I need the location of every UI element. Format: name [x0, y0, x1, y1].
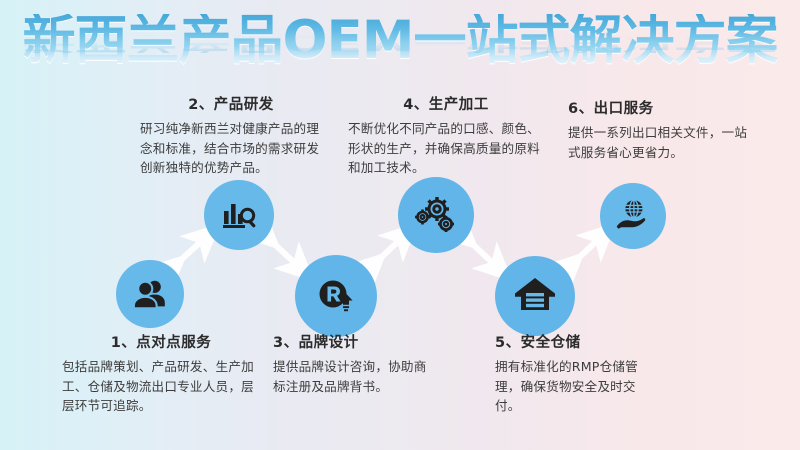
step-body-2: 研习纯净新西兰对健康产品的理念和标准，结合市场的需求研发创新独特的优势产品。: [140, 119, 322, 178]
step-text-2: 2、产品研发 研习纯净新西兰对健康产品的理念和标准，结合市场的需求研发创新独特的…: [140, 93, 322, 178]
step-circle-2[interactable]: [204, 180, 274, 250]
step-body-5: 拥有标准化的RMP仓储管理，确保货物安全及时交付。: [495, 357, 655, 416]
step-heading-3: 3、品牌设计: [273, 331, 433, 352]
step-circle-4[interactable]: [398, 177, 474, 253]
step-heading-6: 6、出口服务: [568, 97, 758, 118]
step-circle-5[interactable]: [495, 256, 575, 336]
infographic-slide: 新西兰产品OEM一站式解决方案 新西兰产品OEM一站式解决方案: [0, 0, 800, 450]
step-text-5: 5、安全仓储 拥有标准化的RMP仓储管理，确保货物安全及时交付。: [495, 331, 655, 416]
warehouse-icon: [512, 273, 558, 319]
arrow-5-6: [570, 236, 602, 266]
step-heading-1: 1、点对点服务: [62, 331, 260, 352]
arrow-4-5: [464, 236, 498, 268]
step-body-3: 提供品牌设计咨询，协助商标注册及品牌背书。: [273, 357, 433, 396]
step-circle-3[interactable]: [295, 255, 377, 337]
step-heading-4: 4、生产加工: [348, 93, 544, 114]
step-text-6: 6、出口服务 提供一系列出口相关文件，一站式服务省心更省力。: [568, 97, 758, 162]
step-circle-1[interactable]: [116, 260, 184, 328]
trademark-upload-icon: [313, 273, 359, 319]
users-icon: [131, 275, 169, 313]
step-heading-5: 5、安全仓储: [495, 331, 655, 352]
chart-search-icon: [219, 195, 259, 235]
step-text-1: 1、点对点服务 包括品牌策划、产品研发、生产加工、仓储及物流出口专业人员，层层环…: [62, 331, 260, 416]
gears-icon: [413, 192, 459, 238]
arrow-3-4: [372, 236, 404, 266]
step-body-6: 提供一系列出口相关文件，一站式服务省心更省力。: [568, 123, 758, 162]
arrow-2-3: [266, 236, 300, 268]
step-body-4: 不断优化不同产品的口感、颜色、形状的生产，并确保高质量的原料和加工技术。: [348, 119, 544, 178]
step-body-1: 包括品牌策划、产品研发、生产加工、仓储及物流出口专业人员，层层环节可追踪。: [62, 357, 260, 416]
step-text-4: 4、生产加工 不断优化不同产品的口感、颜色、形状的生产，并确保高质量的原料和加工…: [348, 93, 544, 178]
step-heading-2: 2、产品研发: [140, 93, 322, 114]
step-text-3: 3、品牌设计 提供品牌设计咨询，协助商标注册及品牌背书。: [273, 331, 433, 396]
step-circle-6[interactable]: [600, 183, 666, 249]
arrow-1-2: [172, 237, 206, 268]
hand-globe-icon: [613, 196, 653, 236]
